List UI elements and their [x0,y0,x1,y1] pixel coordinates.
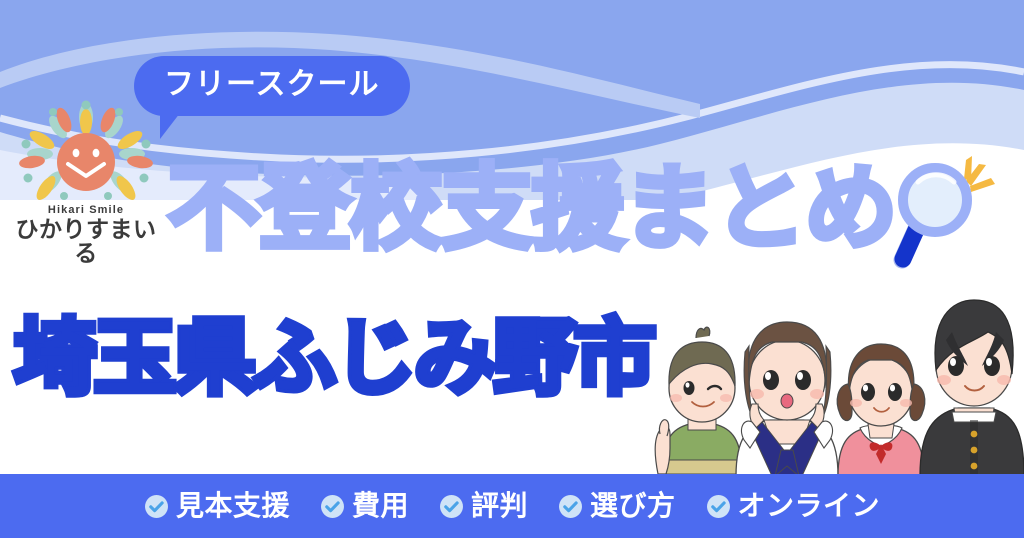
check-circle-icon [439,494,464,519]
logo-japanese-name: ひかりすまいる [6,217,166,265]
feature-chip[interactable]: オンライン [706,492,881,520]
magnifying-glass-icon [876,148,1008,280]
check-circle-icon [320,494,345,519]
smiling-sun-logo [6,100,166,208]
logo-eye-left [73,149,80,157]
magnifier-handle [903,230,916,259]
category-label: フリースクール [164,70,380,100]
logo-english-name: Hikari Smile [6,204,166,216]
feature-chip-label: 費用 [352,492,409,520]
feature-chip[interactable]: 選び方 [558,492,676,520]
category-speech-bubble[interactable]: フリースクール [134,56,410,116]
logo-sun-face [57,133,115,191]
character-surprised-girl-sailor [736,322,838,476]
four-students-illustration [652,288,1024,478]
location-title: 埼玉県ふじみ野市 [14,318,654,400]
logo-eye-right [93,149,100,157]
feature-chip[interactable]: 見本支援 [144,492,290,520]
feature-chip-label: 見本支援 [176,492,290,520]
check-circle-icon [706,494,731,519]
logo-block: Hikari Smile ひかりすまいる [6,100,166,250]
feature-chip[interactable]: 評判 [439,492,528,520]
feature-chip-label: 選び方 [590,492,676,520]
speech-bubble-tail [160,113,194,139]
magnifier-lens [903,168,967,232]
feature-chip-bar: 見本支援 費用 評判 選び方 [0,474,1024,538]
check-circle-icon [558,494,583,519]
page-title: 不登校支援まとめ [168,163,896,255]
check-circle-icon [144,494,169,519]
character-winking-boy [655,327,742,474]
character-gakuran-boy [920,300,1024,476]
feature-chip[interactable]: 費用 [320,492,409,520]
character-pigtail-girl-pink [837,344,925,476]
feature-chip-label: オンライン [738,492,881,520]
feature-chip-label: 評判 [471,492,528,520]
banner-root: Hikari Smile ひかりすまいる フリースクール 不登校支援まとめ [0,0,1024,538]
